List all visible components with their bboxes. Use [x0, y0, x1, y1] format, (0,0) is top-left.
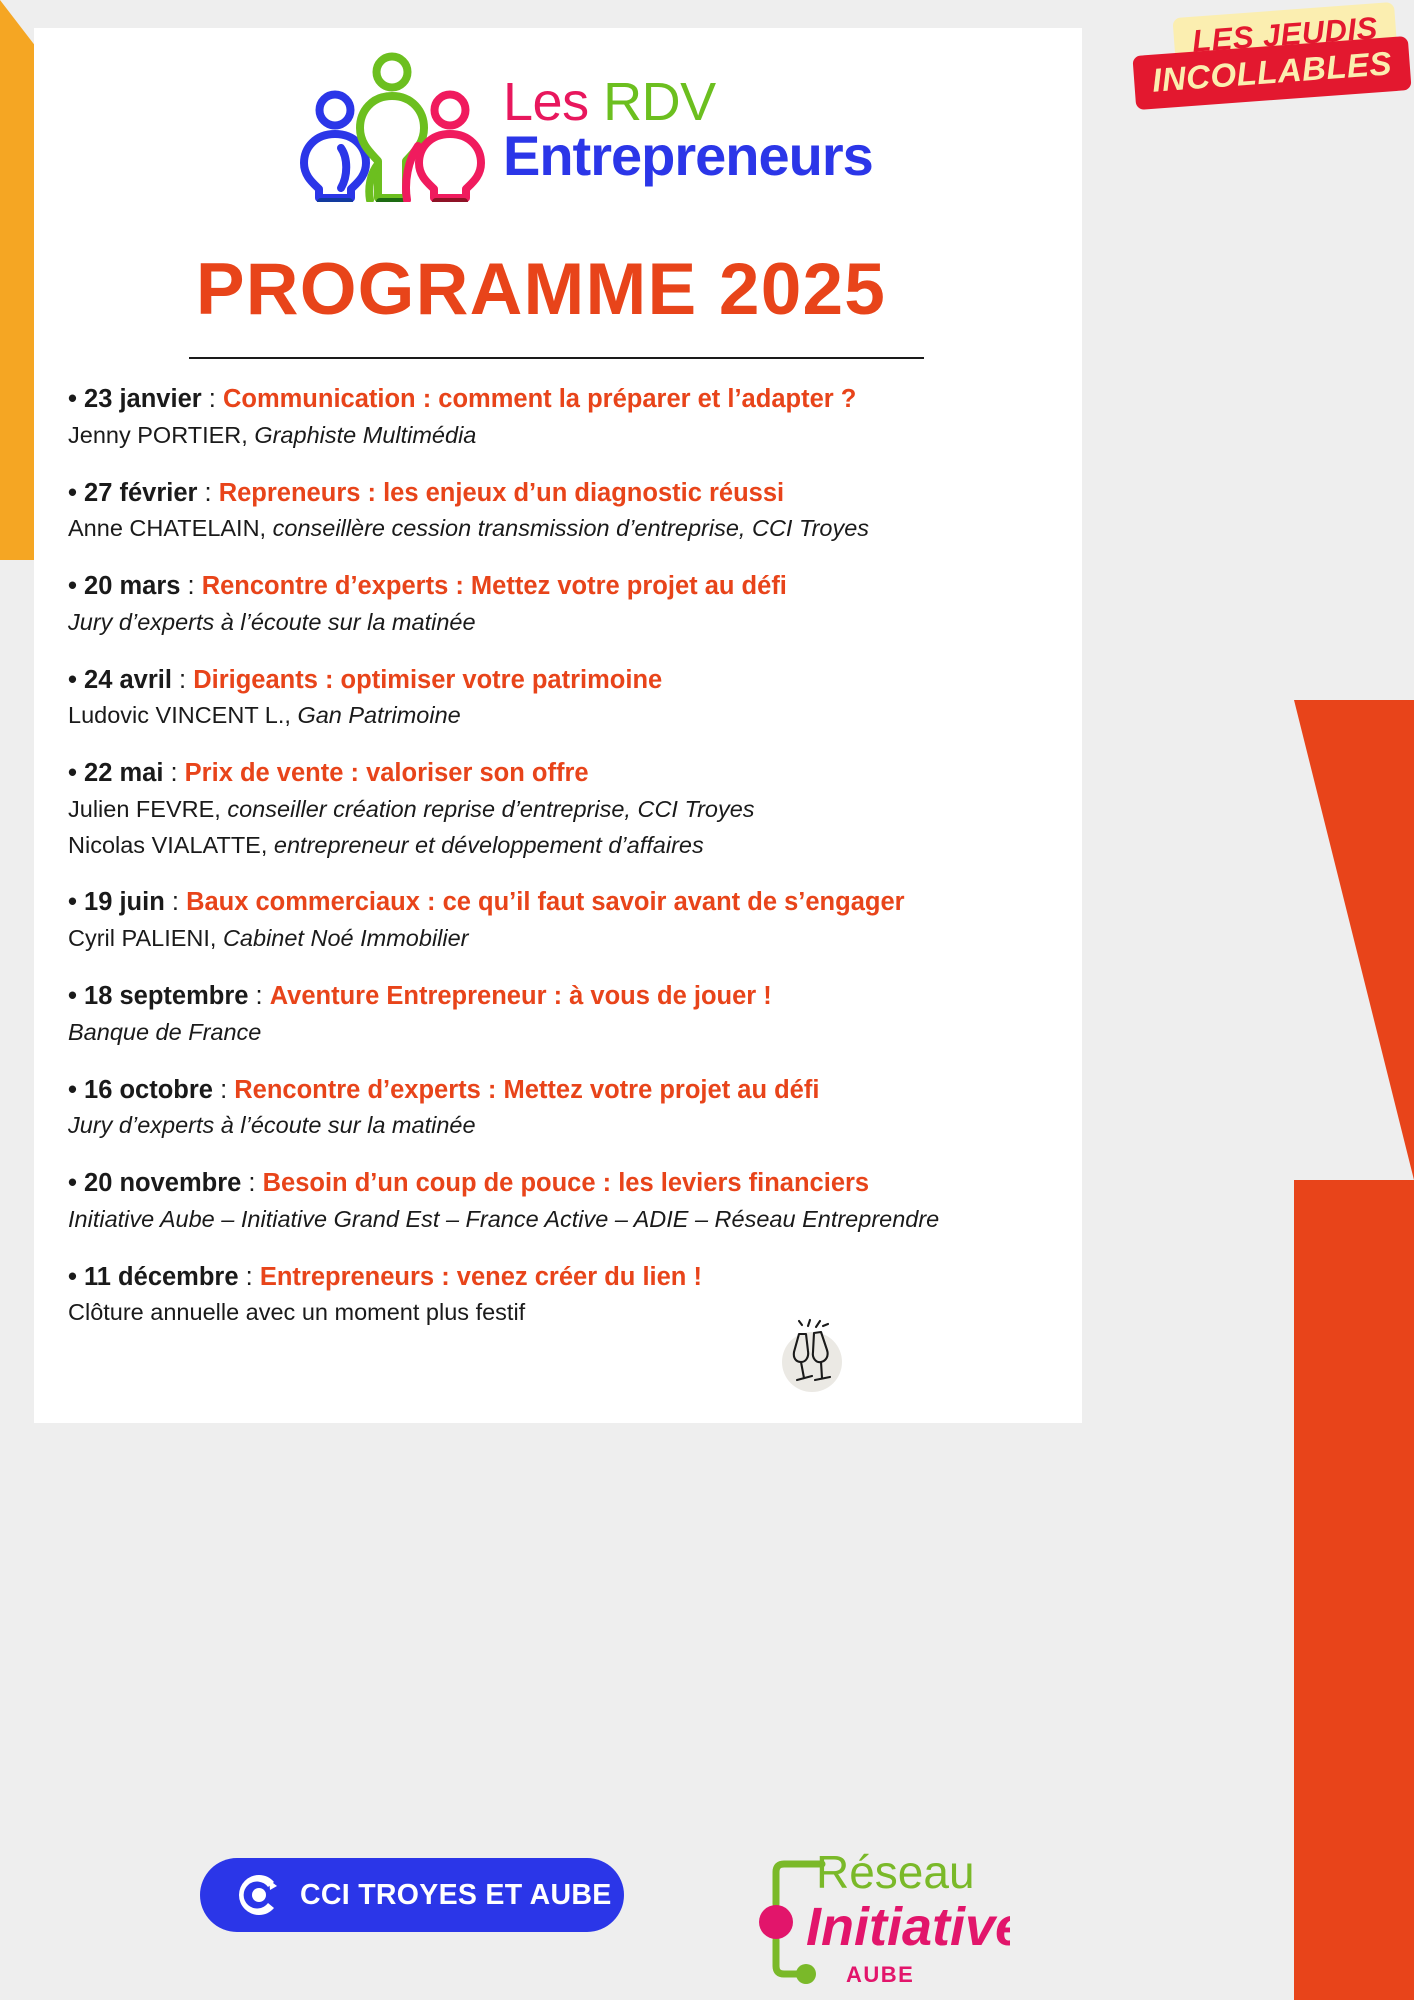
entry-separator: :: [239, 1263, 260, 1291]
cci-troyes-et-aube-logo[interactable]: CCI TROYES ET AUBE: [200, 1858, 624, 1932]
program-entry-speaker: Cyril PALIENI, Cabinet Noé Immobilier: [68, 922, 988, 955]
reseau-initiative-logo-icon: Réseau Initiative AUBE: [750, 1842, 1010, 1992]
brand-logo: Les RDV Entrepreneurs: [300, 52, 873, 202]
program-entry-speaker: Jury d’experts à l’écoute sur la matinée: [68, 606, 988, 639]
program-entry-heading: • 16 octobre : Rencontre d’experts : Met…: [68, 1074, 988, 1107]
entry-speaker-role: entrepreneur et développement d’affaires: [274, 832, 704, 858]
entry-speaker-role: conseillère cession transmission d’entre…: [273, 515, 869, 541]
program-entry: • 20 novembre : Besoin d’un coup de pouc…: [68, 1167, 988, 1236]
clinking-glasses-icon: [768, 1312, 856, 1400]
entry-date: 23 janvier: [84, 385, 202, 413]
entry-bullet: •: [68, 572, 84, 600]
initiative-word-initiative: Initiative: [806, 1897, 1010, 1957]
entry-date: 22 mai: [84, 759, 163, 787]
program-entry: • 18 septembre : Aventure Entrepreneur :…: [68, 980, 988, 1049]
cci-circular-logo-icon: [236, 1872, 282, 1918]
entry-bullet: •: [68, 982, 84, 1010]
entry-speaker-name: Nicolas VIALATTE,: [68, 832, 274, 858]
program-entry-heading: • 24 avril : Dirigeants : optimiser votr…: [68, 664, 988, 697]
entry-speaker-role: Jury d’experts à l’écoute sur la matinée: [68, 1112, 476, 1138]
entry-speaker-role: Gan Patrimoine: [297, 702, 460, 728]
entry-bullet: •: [68, 759, 84, 787]
entry-separator: :: [213, 1076, 234, 1104]
initiative-word-reseau: Réseau: [816, 1846, 975, 1898]
program-list: • 23 janvier : Communication : comment l…: [68, 383, 988, 1329]
entry-bullet: •: [68, 1263, 84, 1291]
entry-topic: Communication : comment la préparer et l…: [223, 385, 856, 413]
entry-separator: :: [163, 759, 184, 787]
entry-date: 27 février: [84, 479, 197, 507]
program-entry-speaker: Banque de France: [68, 1016, 988, 1049]
program-entry-heading: • 27 février : Repreneurs : les enjeux d…: [68, 477, 988, 510]
entry-date: 20 mars: [84, 572, 180, 600]
program-entry: • 16 octobre : Rencontre d’experts : Met…: [68, 1074, 988, 1143]
program-entry-heading: • 20 novembre : Besoin d’un coup de pouc…: [68, 1167, 988, 1200]
entry-topic: Baux commerciaux : ce qu’il faut savoir …: [186, 888, 905, 916]
entry-topic: Aventure Entrepreneur : à vous de jouer …: [270, 982, 772, 1010]
program-entry-heading: • 11 décembre : Entrepreneurs : venez cr…: [68, 1261, 988, 1294]
entry-bullet: •: [68, 666, 84, 694]
entry-speaker-name: Cyril PALIENI,: [68, 925, 223, 951]
entry-topic: Rencontre d’experts : Mettez votre proje…: [234, 1076, 819, 1104]
entry-speaker-role: Graphiste Multimédia: [254, 422, 476, 448]
entry-speaker-role: Jury d’experts à l’écoute sur la matinée: [68, 609, 476, 635]
poster-root: LES JEUDIS INCOLLABLES: [0, 0, 1414, 2000]
program-entry-heading: • 18 septembre : Aventure Entrepreneur :…: [68, 980, 988, 1013]
entry-topic: Prix de vente : valoriser son offre: [185, 759, 589, 787]
program-entry-speaker: Jenny PORTIER, Graphiste Multimédia: [68, 419, 988, 452]
entry-speaker-name: Clôture annuelle avec un moment plus fes…: [68, 1299, 525, 1325]
entry-date: 18 septembre: [84, 982, 248, 1010]
entry-topic: Rencontre d’experts : Mettez votre proje…: [202, 572, 787, 600]
initiative-word-aube: AUBE: [846, 1962, 914, 1987]
reseau-initiative-aube-logo[interactable]: Réseau Initiative AUBE: [750, 1842, 1010, 1992]
brand-word-les: Les: [503, 72, 603, 132]
program-entry-speaker: Ludovic VINCENT L., Gan Patrimoine: [68, 699, 988, 732]
entry-bullet: •: [68, 1169, 84, 1197]
title-divider: [189, 357, 924, 359]
entry-speaker-role: conseiller création reprise d’entreprise…: [227, 796, 754, 822]
program-entry: • 19 juin : Baux commerciaux : ce qu’il …: [68, 886, 988, 955]
entry-separator: :: [165, 888, 186, 916]
entry-bullet: •: [68, 1076, 84, 1104]
cci-logo-label: CCI TROYES ET AUBE: [300, 1879, 612, 1912]
entry-topic: Repreneurs : les enjeux d’un diagnostic …: [219, 479, 784, 507]
page-title: PROGRAMME 2025: [0, 248, 1414, 331]
entry-topic: Dirigeants : optimiser votre patrimoine: [193, 666, 662, 694]
program-entry: • 27 février : Repreneurs : les enjeux d…: [68, 477, 988, 546]
entry-date: 16 octobre: [84, 1076, 213, 1104]
entry-speaker-name: Ludovic VINCENT L.,: [68, 702, 297, 728]
program-entry-speaker: Initiative Aube – Initiative Grand Est –…: [68, 1203, 988, 1236]
entry-speaker-name: Anne CHATELAIN,: [68, 515, 273, 541]
les-jeudis-incollables-badge: LES JEUDIS INCOLLABLES: [984, 2, 1404, 112]
entry-topic: Besoin d’un coup de pouce : les leviers …: [263, 1169, 870, 1197]
program-entry-heading: • 22 mai : Prix de vente : valoriser son…: [68, 757, 988, 790]
entry-date: 20 novembre: [84, 1169, 241, 1197]
entry-separator: :: [248, 982, 269, 1010]
program-entry-heading: • 20 mars : Rencontre d’experts : Mettez…: [68, 570, 988, 603]
red-corner-accent-mask: [1294, 700, 1414, 1180]
entry-topic: Entrepreneurs : venez créer du lien !: [260, 1263, 702, 1291]
three-lightbulb-people-logo-icon: [300, 52, 485, 202]
program-entry: • 23 janvier : Communication : comment l…: [68, 383, 988, 452]
brand-logo-text: Les RDV Entrepreneurs: [503, 69, 873, 184]
program-entry: • 20 mars : Rencontre d’experts : Mettez…: [68, 570, 988, 639]
program-entry-speaker-second: Nicolas VIALATTE, entrepreneur et dévelo…: [68, 829, 988, 862]
entry-speaker-name: Julien FEVRE,: [68, 796, 227, 822]
entry-speaker-role: Cabinet Noé Immobilier: [223, 925, 469, 951]
program-entry: • 24 avril : Dirigeants : optimiser votr…: [68, 664, 988, 733]
entry-speaker-role: Banque de France: [68, 1019, 261, 1045]
entry-speaker-name: Jenny PORTIER,: [68, 422, 254, 448]
entry-separator: :: [202, 385, 223, 413]
entry-date: 24 avril: [84, 666, 172, 694]
entry-date: 11 décembre: [84, 1263, 239, 1291]
entry-separator: :: [241, 1169, 262, 1197]
entry-bullet: •: [68, 385, 84, 413]
program-entry-speaker: Jury d’experts à l’écoute sur la matinée: [68, 1109, 988, 1142]
program-entry-heading: • 19 juin : Baux commerciaux : ce qu’il …: [68, 886, 988, 919]
entry-separator: :: [172, 666, 193, 694]
program-entry-heading: • 23 janvier : Communication : comment l…: [68, 383, 988, 416]
brand-word-entrepreneurs: Entrepreneurs: [503, 127, 873, 184]
program-entry-speaker: Anne CHATELAIN, conseillère cession tran…: [68, 512, 988, 545]
entry-bullet: •: [68, 479, 84, 507]
entry-separator: :: [180, 572, 201, 600]
program-entry: • 22 mai : Prix de vente : valoriser son…: [68, 757, 988, 861]
entry-separator: :: [197, 479, 218, 507]
footer: CCI TROYES ET AUBE Réseau Initiative AUB…: [0, 1840, 1414, 2000]
brand-word-rdv: RDV: [603, 72, 716, 132]
entry-date: 19 juin: [84, 888, 165, 916]
entry-speaker-role: Initiative Aube – Initiative Grand Est –…: [68, 1206, 939, 1232]
brand-logo-line1: Les RDV: [503, 75, 873, 129]
program-entry-speaker: Julien FEVRE, conseiller création repris…: [68, 793, 988, 826]
entry-bullet: •: [68, 888, 84, 916]
